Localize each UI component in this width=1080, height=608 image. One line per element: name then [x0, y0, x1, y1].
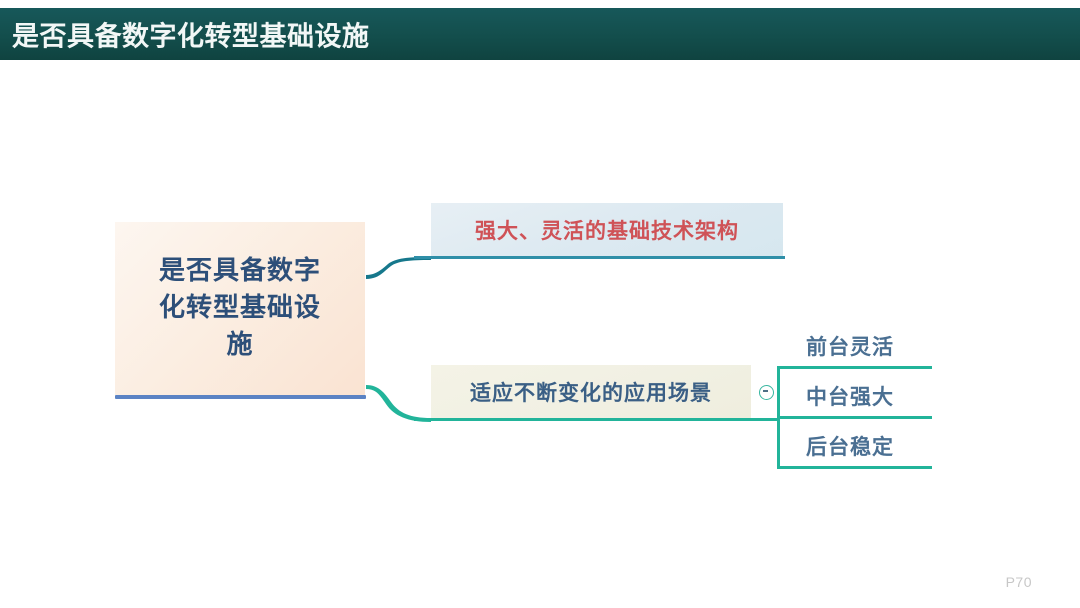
mindmap-subitem-2-rule: [777, 416, 932, 419]
mindmap-root-label: 是否具备数字化转型基础设施: [150, 253, 330, 364]
mindmap-subitem-2-label: 中台强大: [806, 381, 894, 411]
mindmap-subitem-3-label: 后台稳定: [806, 431, 894, 461]
mindmap-branch-2-label: 适应不断变化的应用场景: [470, 377, 712, 407]
mindmap-subitem-1-label: 前台灵活: [806, 331, 894, 361]
mindmap-root-underline: [115, 395, 366, 399]
mindmap-subitem-1[interactable]: 前台灵活: [806, 324, 894, 368]
mindmap-branch-1-underline: [414, 256, 785, 259]
mindmap-subitem-3[interactable]: 后台稳定: [806, 424, 894, 468]
slide: 是否具备数字化转型基础设施 是否具备数字化转型基础设施 强大、灵活的基础技术架构…: [0, 0, 1080, 608]
collapse-minus-icon[interactable]: [759, 385, 774, 400]
connector-branch-1: [366, 257, 431, 279]
mindmap-root-node[interactable]: 是否具备数字化转型基础设施: [115, 222, 365, 395]
mindmap-branch-2[interactable]: 适应不断变化的应用场景: [431, 365, 751, 418]
mindmap-canvas: 是否具备数字化转型基础设施 强大、灵活的基础技术架构 适应不断变化的应用场景 前…: [0, 60, 1080, 608]
mindmap-branch-1[interactable]: 强大、灵活的基础技术架构: [431, 203, 783, 256]
mindmap-subitem-2[interactable]: 中台强大: [806, 374, 894, 418]
page-number: P70: [1006, 574, 1032, 590]
mindmap-subitem-1-rule: [777, 366, 932, 369]
connector-branch-2: [366, 385, 431, 422]
page-title: 是否具备数字化转型基础设施: [12, 15, 370, 54]
mindmap-subitem-3-rule: [777, 466, 932, 469]
mindmap-branch-2-underline: [414, 418, 780, 421]
slide-header-bar: 是否具备数字化转型基础设施: [0, 8, 1080, 60]
mindmap-branch-1-label: 强大、灵活的基础技术架构: [475, 215, 739, 245]
